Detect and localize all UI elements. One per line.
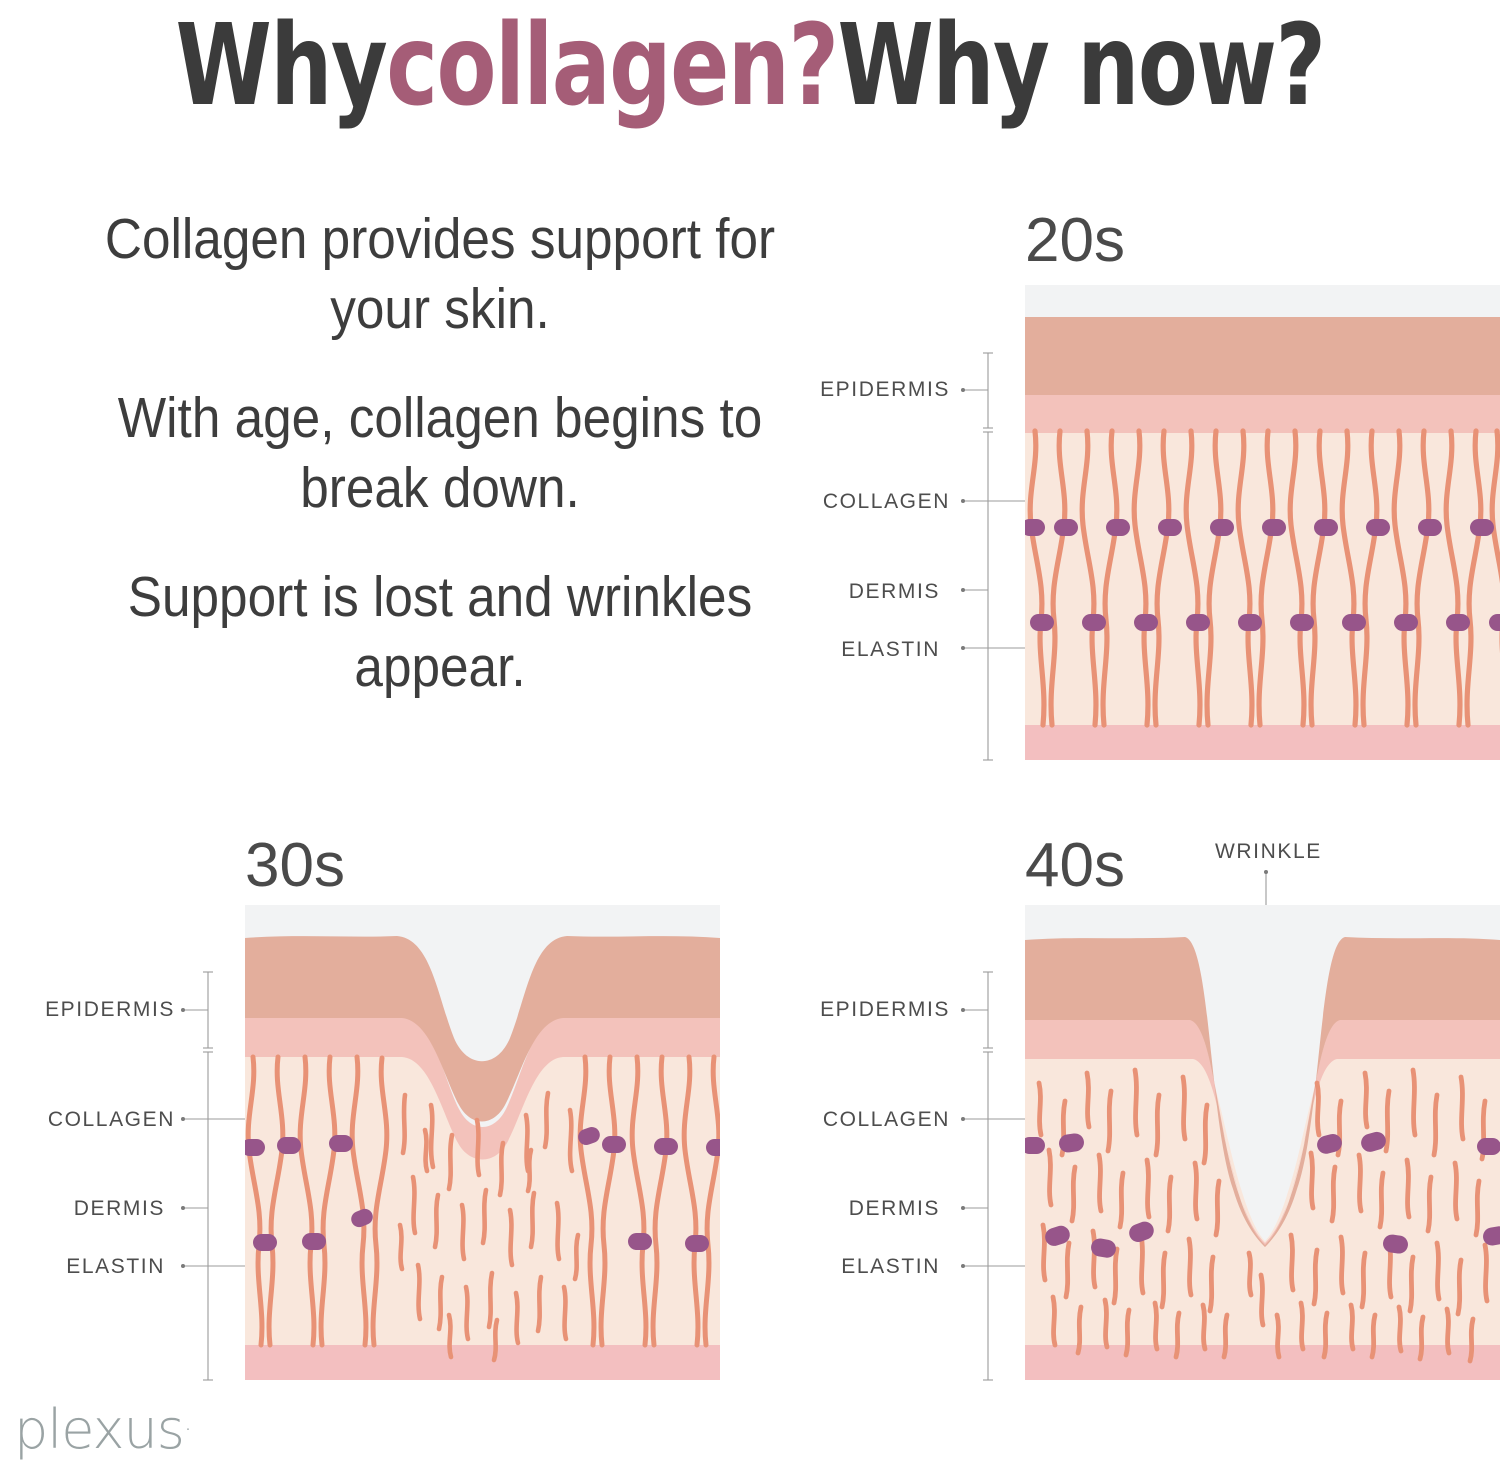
age-label-20s: 20s bbox=[1025, 205, 1125, 276]
skin-panel-40s: 40s WRINKLE EPIDERMIS COLLAGEN DERMIS EL… bbox=[760, 800, 1500, 1440]
skin-cross-section-40s bbox=[1025, 905, 1500, 1380]
age-label-30s: 30s bbox=[245, 830, 345, 901]
logo-dot: · bbox=[184, 1415, 191, 1445]
skin-panel-20s: 20s EPIDERMIS COLLAGEN DERMIS ELASTIN bbox=[0, 0, 1500, 800]
age-label-40s: 40s bbox=[1025, 830, 1125, 901]
skin-cross-section-30s bbox=[245, 905, 720, 1380]
label-epidermis-40s: EPIDERMIS bbox=[730, 998, 950, 1022]
label-epidermis-20s: EPIDERMIS bbox=[730, 378, 950, 402]
label-elastin-40s: ELASTIN bbox=[730, 1255, 940, 1279]
logo-wordmark: plexus bbox=[14, 1398, 184, 1461]
label-collagen-20s: COLLAGEN bbox=[730, 490, 950, 514]
label-wrinkle-40s: WRINKLE bbox=[1215, 840, 1322, 864]
skin-panel-30s: 30s EPIDERMIS COLLAGEN DERMIS ELASTIN bbox=[0, 800, 760, 1440]
label-elastin-20s: ELASTIN bbox=[730, 638, 940, 662]
label-elastin-30s: ELASTIN bbox=[0, 1255, 165, 1279]
label-dermis-40s: DERMIS bbox=[730, 1197, 940, 1221]
skin-cross-section-20s bbox=[1025, 285, 1500, 760]
label-collagen-40s: COLLAGEN bbox=[730, 1108, 950, 1132]
label-epidermis-30s: EPIDERMIS bbox=[0, 998, 175, 1022]
label-dermis-30s: DERMIS bbox=[0, 1197, 165, 1221]
plexus-logo: plexus· bbox=[14, 1398, 191, 1461]
label-collagen-30s: COLLAGEN bbox=[0, 1108, 175, 1132]
label-dermis-20s: DERMIS bbox=[730, 580, 940, 604]
